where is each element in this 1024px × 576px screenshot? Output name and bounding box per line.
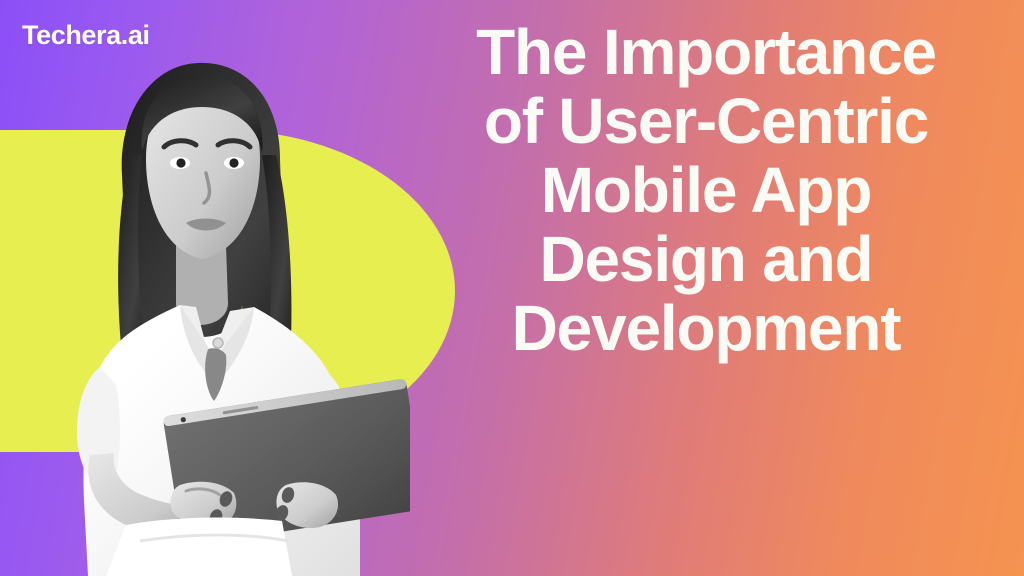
brand-logo-text: Techera.ai	[22, 22, 150, 49]
banner-canvas: Techera.ai The Importance of User-Centri…	[0, 0, 1024, 576]
person-photo-cutout	[30, 55, 410, 576]
headline-line-2: of User-Centric	[406, 87, 1006, 156]
headline: The Importance of User-Centric Mobile Ap…	[406, 18, 1006, 364]
headline-line-1: The Importance	[406, 18, 1006, 87]
headline-line-4: Design and	[406, 225, 1006, 294]
headline-line-5: Development	[406, 294, 1006, 363]
headline-line-3: Mobile App	[406, 156, 1006, 225]
